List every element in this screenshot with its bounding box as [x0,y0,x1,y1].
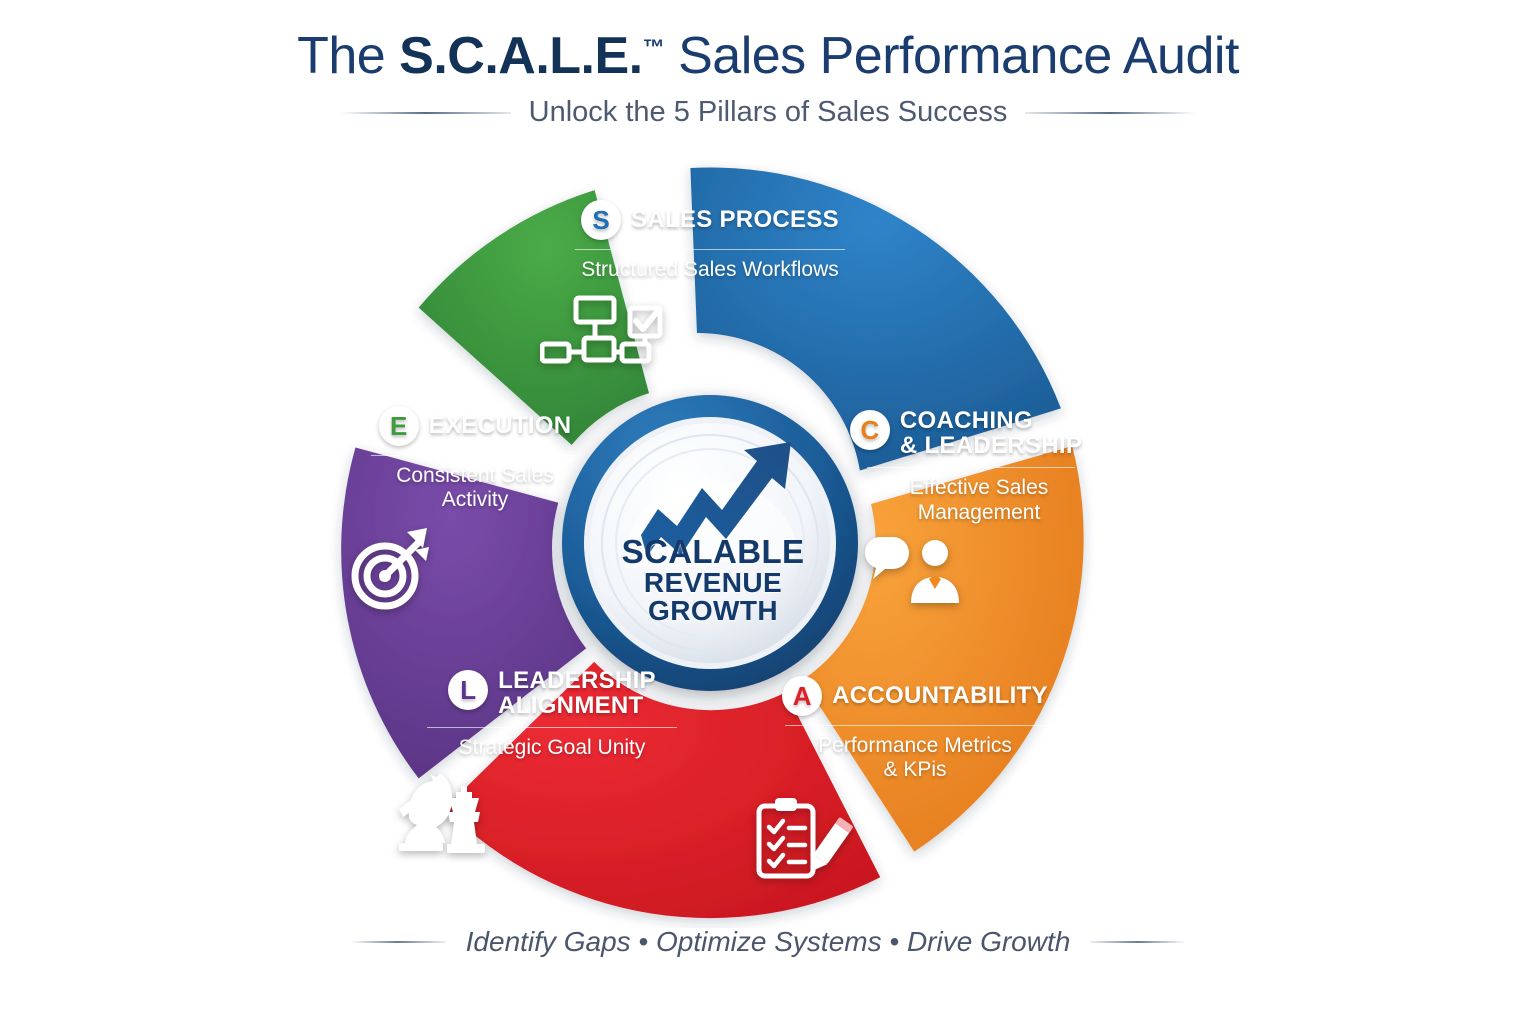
footer-tagline: Identify Gaps • Optimize Systems • Drive… [466,926,1071,958]
hub-line-3: GROWTH [568,597,858,626]
footer: Identify Gaps • Optimize Systems • Drive… [0,926,1536,958]
hub-line-2: REVENUE [568,569,858,598]
scale-wheel-diagram: S SALES PROCESS Structured Sales Workflo… [325,158,1095,928]
hub-text: SCALABLE REVENUE GROWTH [568,535,858,626]
subtitle-rule-right [1025,112,1195,114]
footer-rule-left [350,941,446,943]
trademark-symbol: ™ [643,35,665,60]
title-acronym: S.C.A.L.E. [399,27,642,85]
subtitle-row: Unlock the 5 Pillars of Sales Success [341,96,1196,129]
footer-rule-right [1090,941,1186,943]
title-suffix: Sales Performance Audit [664,27,1239,85]
page-subtitle: Unlock the 5 Pillars of Sales Success [529,96,1008,129]
header: The S.C.A.L.E.™ Sales Performance Audit … [0,0,1536,150]
subtitle-rule-left [341,112,511,114]
hub-content: SCALABLE REVENUE GROWTH [568,383,858,673]
title-prefix: The [297,27,399,85]
hub-line-1: SCALABLE [568,535,858,569]
page-title: The S.C.A.L.E.™ Sales Performance Audit [297,30,1239,82]
